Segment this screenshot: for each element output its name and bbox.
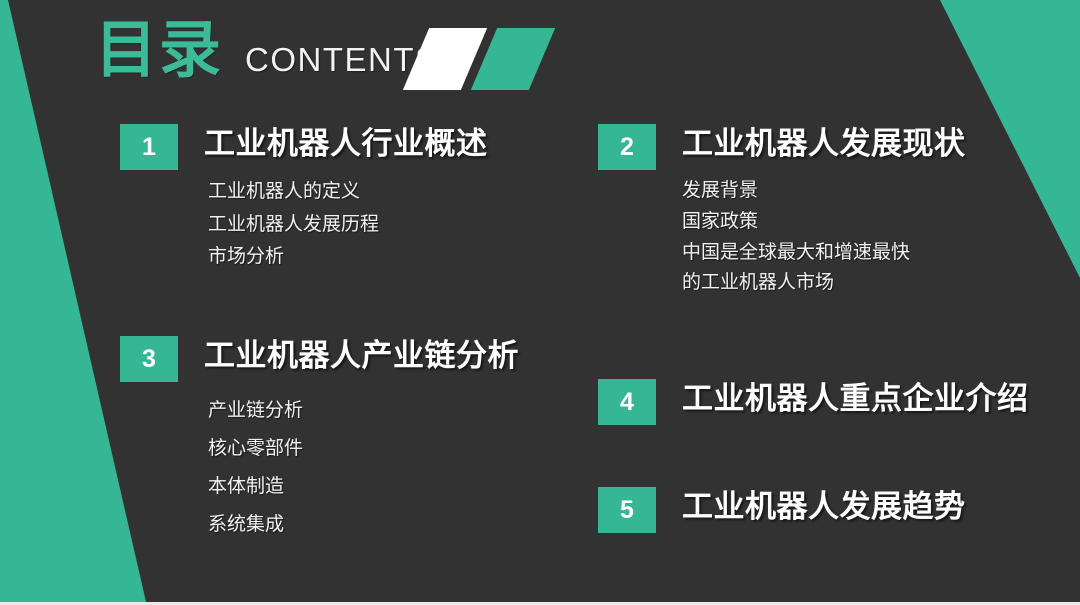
toc-section-3-header[interactable]: 3 工业机器人产业链分析 [120,336,580,382]
page-title-cn: 目录 [95,20,223,82]
section-number-badge: 4 [598,379,656,425]
list-item[interactable]: 国家政策 [682,207,1068,238]
list-item[interactable]: 产业链分析 [208,392,580,430]
section-title: 工业机器人发展现状 [682,126,966,162]
toc-section-2-header[interactable]: 2 工业机器人发展现状 [598,124,1068,170]
section-title: 工业机器人行业概述 [204,126,488,162]
section-title: 工业机器人重点企业介绍 [682,381,1029,417]
toc-section-4[interactable]: 4 工业机器人重点企业介绍 [598,379,1068,425]
slide-header: 目录 CONTENTS [95,20,439,100]
toc-column-left: 1 工业机器人行业概述 工业机器人的定义 工业机器人发展历程 市场分析 3 工业… [120,124,580,544]
toc-section-2[interactable]: 2 工业机器人发展现状 发展背景 国家政策 中国是全球最大和增速最快 的工业机器… [598,124,1068,299]
green-parallelogram-icon [471,28,555,90]
list-item[interactable]: 中国是全球最大和增速最快 的工业机器人市场 [682,238,1068,300]
list-item[interactable]: 工业机器人的定义 [208,176,580,209]
toc-section-5[interactable]: 5 工业机器人发展趋势 [598,487,1068,533]
section-number-badge: 3 [120,336,178,382]
toc-section-1[interactable]: 1 工业机器人行业概述 工业机器人的定义 工业机器人发展历程 市场分析 [120,124,580,274]
toc-section-4-header[interactable]: 4 工业机器人重点企业介绍 [598,379,1068,425]
toc-section-3-items: 产业链分析 核心零部件 本体制造 系统集成 [208,392,580,544]
contents-slide: 目录 CONTENTS 1 工业机器人行业概述 工业机器人的定义 工业机器人发展… [0,0,1080,605]
list-item[interactable]: 核心零部件 [208,430,580,468]
list-item[interactable]: 市场分析 [208,241,580,274]
header-parallelogram-group [398,28,568,90]
toc-section-2-items: 发展背景 国家政策 中国是全球最大和增速最快 的工业机器人市场 [682,176,1068,299]
list-item[interactable]: 工业机器人发展历程 [208,209,580,242]
toc-section-5-header[interactable]: 5 工业机器人发展趋势 [598,487,1068,533]
toc-column-right: 2 工业机器人发展现状 发展背景 国家政策 中国是全球最大和增速最快 的工业机器… [598,124,1068,533]
toc-section-3[interactable]: 3 工业机器人产业链分析 产业链分析 核心零部件 本体制造 系统集成 [120,336,580,544]
list-item[interactable]: 发展背景 [682,176,1068,207]
toc-section-1-items: 工业机器人的定义 工业机器人发展历程 市场分析 [208,176,580,274]
list-item[interactable]: 系统集成 [208,506,580,544]
section-number-badge: 2 [598,124,656,170]
section-number-badge: 5 [598,487,656,533]
section-number-badge: 1 [120,124,178,170]
list-item[interactable]: 本体制造 [208,468,580,506]
section-title: 工业机器人产业链分析 [204,338,519,374]
section-title: 工业机器人发展趋势 [682,489,966,525]
toc-section-1-header[interactable]: 1 工业机器人行业概述 [120,124,580,170]
